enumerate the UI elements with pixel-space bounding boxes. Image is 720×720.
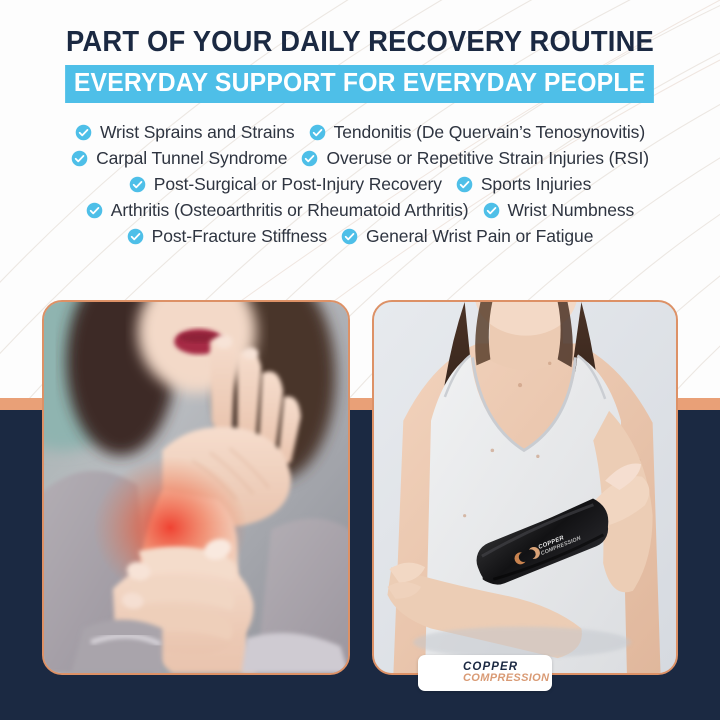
- check-circle-icon: [75, 124, 92, 141]
- check-circle-icon: [456, 176, 473, 193]
- headline-block: PART OF YOUR DAILY RECOVERY ROUTINE EVER…: [0, 26, 720, 103]
- checklist-row: Post-Fracture Stiffness General Wrist Pa…: [0, 226, 720, 247]
- benefits-checklist: Wrist Sprains and Strains Tendonitis (De…: [0, 122, 720, 247]
- list-item-label: Wrist Sprains and Strains: [100, 122, 295, 143]
- check-circle-icon: [127, 228, 144, 245]
- list-item-label: Post-Fracture Stiffness: [152, 226, 327, 247]
- check-circle-icon: [129, 176, 146, 193]
- page-title: PART OF YOUR DAILY RECOVERY ROUTINE: [14, 26, 705, 59]
- check-circle-icon: [86, 202, 103, 219]
- copper-compression-logo-icon: [429, 662, 456, 684]
- list-item-label: Post-Surgical or Post-Injury Recovery: [154, 174, 442, 195]
- list-item: Wrist Sprains and Strains: [75, 122, 295, 143]
- list-item: Sports Injuries: [456, 174, 591, 195]
- brand-logo-text: COPPER COMPRESSION: [463, 662, 549, 685]
- list-item: Wrist Numbness: [483, 200, 635, 221]
- photo-wrist-pain: [42, 300, 350, 675]
- photo-wearing-wrist-sleeve: COPPER COMPRESSION: [372, 300, 678, 675]
- promo-graphic: PART OF YOUR DAILY RECOVERY ROUTINE EVER…: [0, 0, 720, 720]
- list-item: Post-Fracture Stiffness: [127, 226, 327, 247]
- list-item-label: General Wrist Pain or Fatigue: [366, 226, 593, 247]
- check-circle-icon: [309, 124, 326, 141]
- list-item: Overuse or Repetitive Strain Injuries (R…: [301, 148, 648, 169]
- page-subtitle-highlight: EVERYDAY SUPPORT FOR EVERYDAY PEOPLE: [66, 65, 655, 103]
- list-item-label: Wrist Numbness: [508, 200, 635, 221]
- checklist-row: Arthritis (Osteoarthritis or Rheumatoid …: [0, 200, 720, 221]
- list-item: General Wrist Pain or Fatigue: [341, 226, 593, 247]
- list-item: Post-Surgical or Post-Injury Recovery: [129, 174, 442, 195]
- check-circle-icon: [341, 228, 358, 245]
- brand-name-line2: COMPRESSION: [463, 673, 549, 684]
- checklist-row: Post-Surgical or Post-Injury Recovery Sp…: [0, 174, 720, 195]
- check-circle-icon: [301, 150, 318, 167]
- check-circle-icon: [71, 150, 88, 167]
- brand-logo-badge: COPPER COMPRESSION: [418, 655, 552, 691]
- list-item: Tendonitis (De Quervain’s Tenosynovitis): [309, 122, 645, 143]
- list-item-label: Tendonitis (De Quervain’s Tenosynovitis): [334, 122, 645, 143]
- list-item-label: Sports Injuries: [481, 174, 591, 195]
- list-item: Arthritis (Osteoarthritis or Rheumatoid …: [86, 200, 469, 221]
- list-item-label: Overuse or Repetitive Strain Injuries (R…: [326, 148, 648, 169]
- list-item-label: Carpal Tunnel Syndrome: [96, 148, 287, 169]
- checklist-row: Wrist Sprains and Strains Tendonitis (De…: [0, 122, 720, 143]
- list-item: Carpal Tunnel Syndrome: [71, 148, 287, 169]
- checklist-row: Carpal Tunnel Syndrome Overuse or Repeti…: [0, 148, 720, 169]
- list-item-label: Arthritis (Osteoarthritis or Rheumatoid …: [111, 200, 469, 221]
- check-circle-icon: [483, 202, 500, 219]
